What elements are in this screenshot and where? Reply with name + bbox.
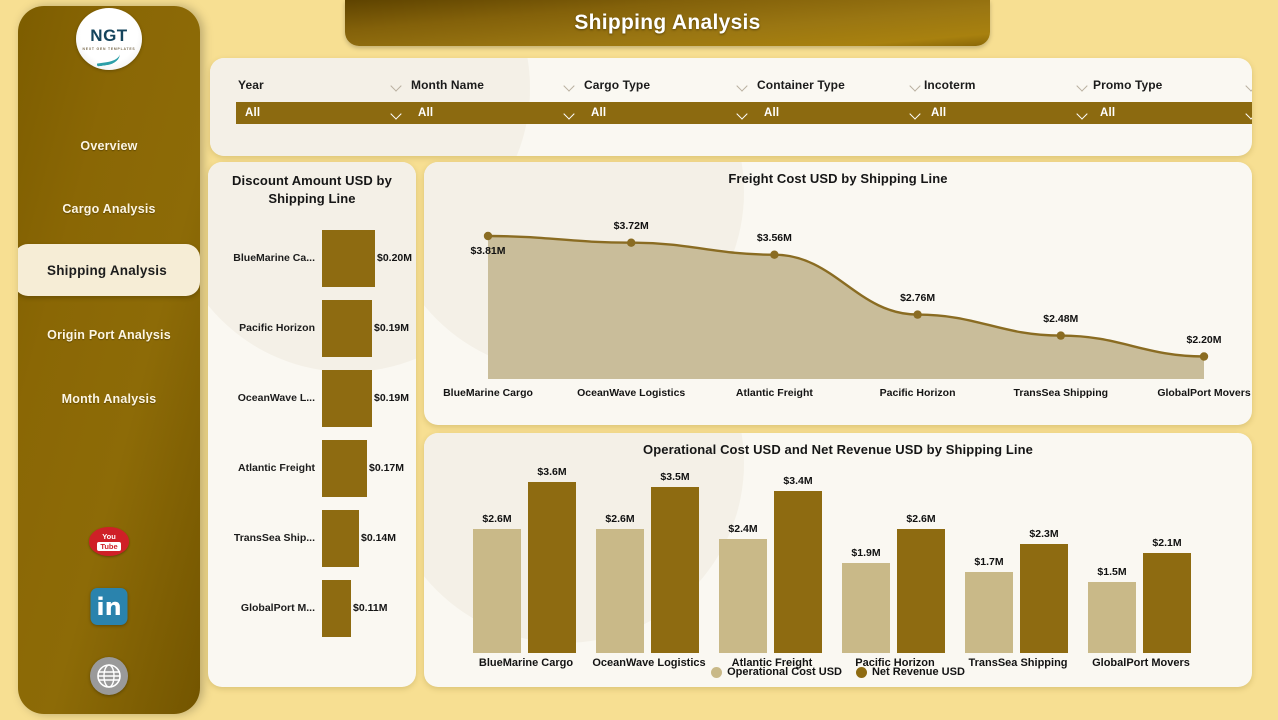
bar-value-label: $0.17M <box>367 462 404 474</box>
chevron-down-icon <box>565 110 575 116</box>
filter-cargo-type[interactable]: Cargo Type All <box>582 76 756 124</box>
bar-operational-cost[interactable] <box>473 529 521 653</box>
sidebar: NGT NEXT GEN TEMPLATES Overview Cargo An… <box>18 6 200 714</box>
point-value-label: $2.48M <box>1031 313 1091 325</box>
data-point[interactable] <box>484 232 492 240</box>
filter-value: All <box>591 107 606 119</box>
chevron-down-icon <box>738 110 748 116</box>
filter-container-type[interactable]: Container Type All <box>755 76 929 124</box>
linkedin-link[interactable]: in <box>91 588 128 625</box>
youtube-icon: You Tube <box>89 527 129 556</box>
filter-label: Promo Type <box>1093 78 1162 92</box>
filter-label: Incoterm <box>924 78 975 92</box>
bar-group: $2.4M$3.4MAtlantic Freight <box>712 463 832 653</box>
legend-item-operational-cost[interactable]: Operational Cost USD <box>711 666 842 678</box>
bar-value-label: $0.19M <box>372 322 409 334</box>
filter-bar: Year All Month Name All Cargo Type <box>210 58 1252 156</box>
bar-group: $2.6M$3.6MBlueMarine Cargo <box>466 463 586 653</box>
bar-operational-cost[interactable] <box>842 563 890 653</box>
bar-category-label: TransSea Ship... <box>208 532 322 544</box>
bar-category-label: GlobalPort M... <box>208 602 322 614</box>
youtube-line2: Tube <box>97 542 120 551</box>
sidebar-item-label: Shipping Analysis <box>47 263 167 278</box>
discount-bar-row[interactable]: GlobalPort M...$0.11M <box>208 570 416 646</box>
axis-category-label: Pacific Horizon <box>843 387 993 399</box>
sidebar-item-label: Cargo Analysis <box>62 202 155 216</box>
bar-net-revenue[interactable] <box>1143 553 1191 653</box>
data-point[interactable] <box>770 251 778 259</box>
chart-title: Operational Cost USD and Net Revenue USD… <box>424 442 1252 457</box>
bar-value-label: $0.19M <box>372 392 409 404</box>
axis-category-label: Atlantic Freight <box>699 387 849 399</box>
bar[interactable] <box>322 440 367 497</box>
bar-value-label: $0.11M <box>351 602 387 614</box>
bar-value-label: $1.7M <box>959 556 1019 568</box>
bar-value-label: $3.6M <box>522 466 582 478</box>
bar-value-label: $2.1M <box>1137 537 1197 549</box>
filter-dropdown[interactable]: All <box>236 102 410 124</box>
discount-amount-chart: Discount Amount USD by Shipping Line Blu… <box>208 162 416 687</box>
chevron-down-icon[interactable] <box>1247 82 1252 88</box>
filter-dropdown[interactable]: All <box>922 102 1096 124</box>
data-point[interactable] <box>913 310 921 318</box>
linkedin-icon: in <box>91 588 128 625</box>
operational-net-revenue-chart: Operational Cost USD and Net Revenue USD… <box>424 433 1252 687</box>
legend-swatch-icon <box>711 667 722 678</box>
legend-label: Net Revenue USD <box>872 666 965 678</box>
filter-dropdown[interactable]: All <box>582 102 756 124</box>
chevron-down-icon <box>1078 110 1088 116</box>
legend-item-net-revenue[interactable]: Net Revenue USD <box>856 666 965 678</box>
bar-category-label: Pacific Horizon <box>208 322 322 334</box>
sidebar-item-label: Month Analysis <box>62 392 157 406</box>
point-value-label: $2.20M <box>1174 334 1234 346</box>
bar-value-label: $2.3M <box>1014 528 1074 540</box>
filter-dropdown[interactable]: All <box>1091 102 1252 124</box>
discount-plot-area: BlueMarine Ca...$0.20MPacific Horizon$0.… <box>208 220 416 680</box>
youtube-line1: You <box>102 533 116 541</box>
axis-category-label: TransSea Shipping <box>986 387 1136 399</box>
bar[interactable] <box>322 370 372 427</box>
ngt-logo: NGT NEXT GEN TEMPLATES <box>76 8 142 70</box>
filter-label: Container Type <box>757 78 845 92</box>
point-value-label: $3.72M <box>601 220 661 232</box>
bar-operational-cost[interactable] <box>719 539 767 653</box>
bar[interactable] <box>322 510 359 567</box>
sidebar-item-label: Overview <box>80 139 137 153</box>
sidebar-item-month-analysis[interactable]: Month Analysis <box>18 385 200 413</box>
page-title-banner: Shipping Analysis <box>345 0 990 46</box>
filter-month-name[interactable]: Month Name All <box>409 76 583 124</box>
bar-category-label: Atlantic Freight <box>208 462 322 474</box>
logo-text: NGT <box>90 27 127 44</box>
point-value-label: $3.56M <box>744 232 804 244</box>
bar[interactable] <box>322 230 375 287</box>
freight-cost-chart: Freight Cost USD by Shipping Line $3.81M… <box>424 162 1252 425</box>
axis-category-label: GlobalPort Movers <box>1129 387 1252 399</box>
discount-bar-row[interactable]: TransSea Ship...$0.14M <box>208 500 416 576</box>
bar-operational-cost[interactable] <box>596 529 644 653</box>
data-point[interactable] <box>1200 352 1208 360</box>
area-fill <box>488 236 1204 379</box>
bar-value-label: $2.6M <box>891 513 951 525</box>
sidebar-item-shipping-analysis[interactable]: Shipping Analysis <box>18 244 200 296</box>
bar-value-label: $2.6M <box>590 513 650 525</box>
sidebar-item-origin-port-analysis[interactable]: Origin Port Analysis <box>18 321 200 349</box>
filter-label: Cargo Type <box>584 78 650 92</box>
website-link[interactable] <box>90 657 128 695</box>
bar-value-label: $2.4M <box>713 523 773 535</box>
chevron-down-icon[interactable] <box>565 82 575 88</box>
bar-group: $1.7M$2.3MTransSea Shipping <box>958 463 1078 653</box>
data-point[interactable] <box>627 239 635 247</box>
axis-category-label: BlueMarine Cargo <box>424 387 563 399</box>
filter-value: All <box>1100 107 1115 119</box>
bar-category-label: BlueMarine Ca... <box>208 252 322 264</box>
discount-bar-row[interactable]: BlueMarine Ca...$0.20M <box>208 220 416 296</box>
freight-line-svg <box>424 162 1252 425</box>
bar[interactable] <box>322 580 351 637</box>
discount-bar-row[interactable]: Atlantic Freight$0.17M <box>208 430 416 506</box>
bar-operational-cost[interactable] <box>965 572 1013 653</box>
chevron-down-icon <box>1247 110 1252 116</box>
sidebar-item-label: Origin Port Analysis <box>47 328 171 342</box>
bar-net-revenue[interactable] <box>1020 544 1068 653</box>
logo-swoosh-icon <box>95 47 121 66</box>
filter-label: Year <box>238 78 264 92</box>
legend-swatch-icon <box>856 667 867 678</box>
filter-label: Month Name <box>411 78 484 92</box>
linkedin-glyph: in <box>96 595 121 619</box>
bar-value-label: $1.9M <box>836 547 896 559</box>
youtube-link[interactable]: You Tube <box>89 527 129 556</box>
sidebar-item-cargo-analysis[interactable]: Cargo Analysis <box>18 195 200 223</box>
axis-category-label: OceanWave Logistics <box>556 387 706 399</box>
bar-net-revenue[interactable] <box>774 491 822 653</box>
filter-dropdown[interactable]: All <box>755 102 929 124</box>
discount-bar-row[interactable]: OceanWave L...$0.19M <box>208 360 416 436</box>
filter-incoterm[interactable]: Incoterm All <box>922 76 1096 124</box>
legend-label: Operational Cost USD <box>727 666 842 678</box>
opnet-plot-area: $2.6M$3.6MBlueMarine Cargo$2.6M$3.5MOcea… <box>424 463 1252 653</box>
bar-group: $1.5M$2.1MGlobalPort Movers <box>1081 463 1201 653</box>
chart-legend: Operational Cost USD Net Revenue USD <box>424 666 1252 678</box>
bar-group: $1.9M$2.6MPacific Horizon <box>835 463 955 653</box>
bar-net-revenue[interactable] <box>528 482 576 653</box>
filter-value: All <box>931 107 946 119</box>
filter-dropdown[interactable]: All <box>409 102 583 124</box>
bar-category-label: OceanWave L... <box>208 392 322 404</box>
chevron-down-icon[interactable] <box>1078 82 1088 88</box>
bar-value-label: $2.6M <box>467 513 527 525</box>
bar[interactable] <box>322 300 372 357</box>
data-point[interactable] <box>1057 331 1065 339</box>
filter-value: All <box>418 107 433 119</box>
bar-value-label: $1.5M <box>1082 566 1142 578</box>
bar-group: $2.6M$3.5MOceanWave Logistics <box>589 463 709 653</box>
chart-title: Discount Amount USD by Shipping Line <box>208 172 416 208</box>
bar-value-label: $3.4M <box>768 475 828 487</box>
point-value-label: $2.76M <box>888 292 948 304</box>
globe-icon <box>90 657 128 695</box>
bar-value-label: $0.14M <box>359 532 396 544</box>
filter-promo-type[interactable]: Promo Type All <box>1091 76 1252 124</box>
discount-bar-row[interactable]: Pacific Horizon$0.19M <box>208 290 416 366</box>
filter-value: All <box>245 107 260 119</box>
chevron-down-icon <box>392 110 402 116</box>
filter-year[interactable]: Year All <box>236 76 410 124</box>
page-title: Shipping Analysis <box>574 11 760 35</box>
chevron-down-icon[interactable] <box>911 82 921 88</box>
sidebar-item-overview[interactable]: Overview <box>18 132 200 160</box>
chevron-down-icon[interactable] <box>738 82 748 88</box>
filter-value: All <box>764 107 779 119</box>
point-value-label: $3.81M <box>458 245 518 257</box>
chevron-down-icon[interactable] <box>392 82 402 88</box>
bar-value-label: $3.5M <box>645 471 705 483</box>
bar-operational-cost[interactable] <box>1088 582 1136 653</box>
bar-net-revenue[interactable] <box>651 487 699 653</box>
chevron-down-icon <box>911 110 921 116</box>
bar-net-revenue[interactable] <box>897 529 945 653</box>
bar-value-label: $0.20M <box>375 252 412 264</box>
